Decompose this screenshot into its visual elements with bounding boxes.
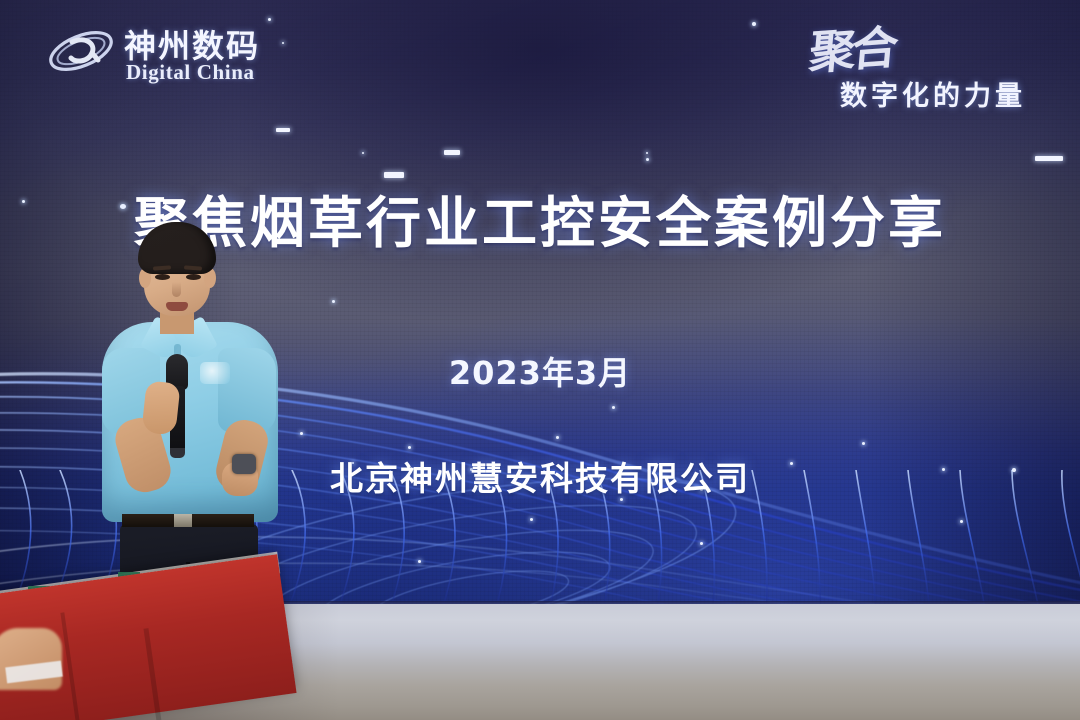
brand-logo-left: 神州数码 Digital China <box>46 20 306 92</box>
presenter-belt-buckle <box>174 514 192 527</box>
digital-china-swirl-icon <box>46 22 116 80</box>
microphone-base <box>170 448 185 458</box>
presenter-eye-left <box>155 274 170 280</box>
event-calligraphy: 聚合 <box>807 11 898 83</box>
conference-stage-photo: 神州数码 Digital China 聚合 数字化的力量 聚焦烟草行业工控安全案… <box>0 0 1080 720</box>
presenter-eye-right <box>186 274 201 280</box>
presenter-hair <box>138 222 216 274</box>
shirt-logo-badge-icon <box>200 362 230 384</box>
event-tagline: 数字化的力量 <box>840 74 1026 113</box>
brand-name-en: Digital China <box>126 60 255 85</box>
presenter-mouth <box>166 302 188 311</box>
brand-logo-right: 聚合 数字化的力量 <box>788 14 1058 114</box>
presenter-nose <box>172 282 181 297</box>
presentation-clicker-icon <box>232 454 256 474</box>
